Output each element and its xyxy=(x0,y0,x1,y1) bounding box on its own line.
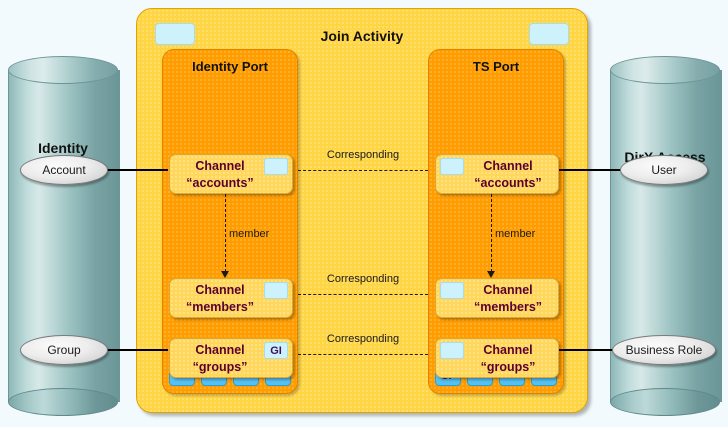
corresponding-link-members xyxy=(298,294,428,295)
connector-ts-groups-to-business-role xyxy=(556,349,616,351)
channel-badge-gi-icon: GI xyxy=(264,342,288,359)
store-node-group-label: Group xyxy=(47,343,80,357)
channel-ts-accounts[interactable]: Channel “accounts” xyxy=(435,154,559,194)
member-arrow-ts xyxy=(491,194,492,272)
channel-badge-icon xyxy=(440,342,464,359)
corresponding-label-groups: Corresponding xyxy=(293,333,433,345)
diagram-canvas: Identity Store Account Group DirX Access… xyxy=(0,0,728,427)
corresponding-link-accounts xyxy=(298,170,428,171)
cylinder-top-ellipse xyxy=(8,56,118,84)
store-node-account-label: Account xyxy=(42,163,85,177)
store-node-business-role[interactable]: Business Role xyxy=(612,335,716,365)
connector-ts-accounts-to-user xyxy=(556,169,624,171)
member-arrowhead-ts xyxy=(487,271,495,278)
channel-identity-members[interactable]: Channel “members” xyxy=(169,278,293,318)
channel-ts-members[interactable]: Channel “members” xyxy=(435,278,559,318)
join-activity-frame: Join Activity Identity Port Channel “acc… xyxy=(136,8,588,413)
store-node-business-role-label: Business Role xyxy=(626,343,703,357)
channel-identity-accounts[interactable]: Channel “accounts” xyxy=(169,154,293,194)
cylinder-bottom-ellipse xyxy=(610,388,720,416)
store-node-group[interactable]: Group xyxy=(20,335,108,365)
channel-badge-icon xyxy=(440,282,464,299)
activity-title: Join Activity xyxy=(137,28,587,44)
cylinder-top-ellipse xyxy=(610,56,720,84)
store-node-account[interactable]: Account xyxy=(20,155,108,185)
corresponding-link-groups xyxy=(298,354,428,355)
member-label-identity: member xyxy=(229,228,269,240)
corresponding-label-members: Corresponding xyxy=(293,273,433,285)
identity-port-title: Identity Port xyxy=(163,59,297,74)
member-label-ts: member xyxy=(495,228,535,240)
store-node-user[interactable]: User xyxy=(620,155,708,185)
channel-badge-icon xyxy=(440,158,464,175)
ts-port-title: TS Port xyxy=(429,59,563,74)
channel-badge-icon xyxy=(264,158,288,175)
member-arrowhead-identity xyxy=(221,271,229,278)
channel-ts-groups[interactable]: Channel “groups” xyxy=(435,338,559,378)
corresponding-label-accounts: Corresponding xyxy=(293,149,433,161)
connector-account-to-identity-accounts xyxy=(104,169,168,171)
member-arrow-identity xyxy=(225,194,226,272)
channel-badge-icon xyxy=(264,282,288,299)
connector-group-to-identity-groups xyxy=(104,349,168,351)
cylinder-bottom-ellipse xyxy=(8,388,118,416)
ts-port[interactable]: TS Port Channel “accounts” Channel “memb… xyxy=(428,49,564,394)
channel-identity-groups[interactable]: Channel “groups” GI xyxy=(169,338,293,378)
identity-port[interactable]: Identity Port Channel “accounts” Channel… xyxy=(162,49,298,394)
store-node-user-label: User xyxy=(651,163,676,177)
